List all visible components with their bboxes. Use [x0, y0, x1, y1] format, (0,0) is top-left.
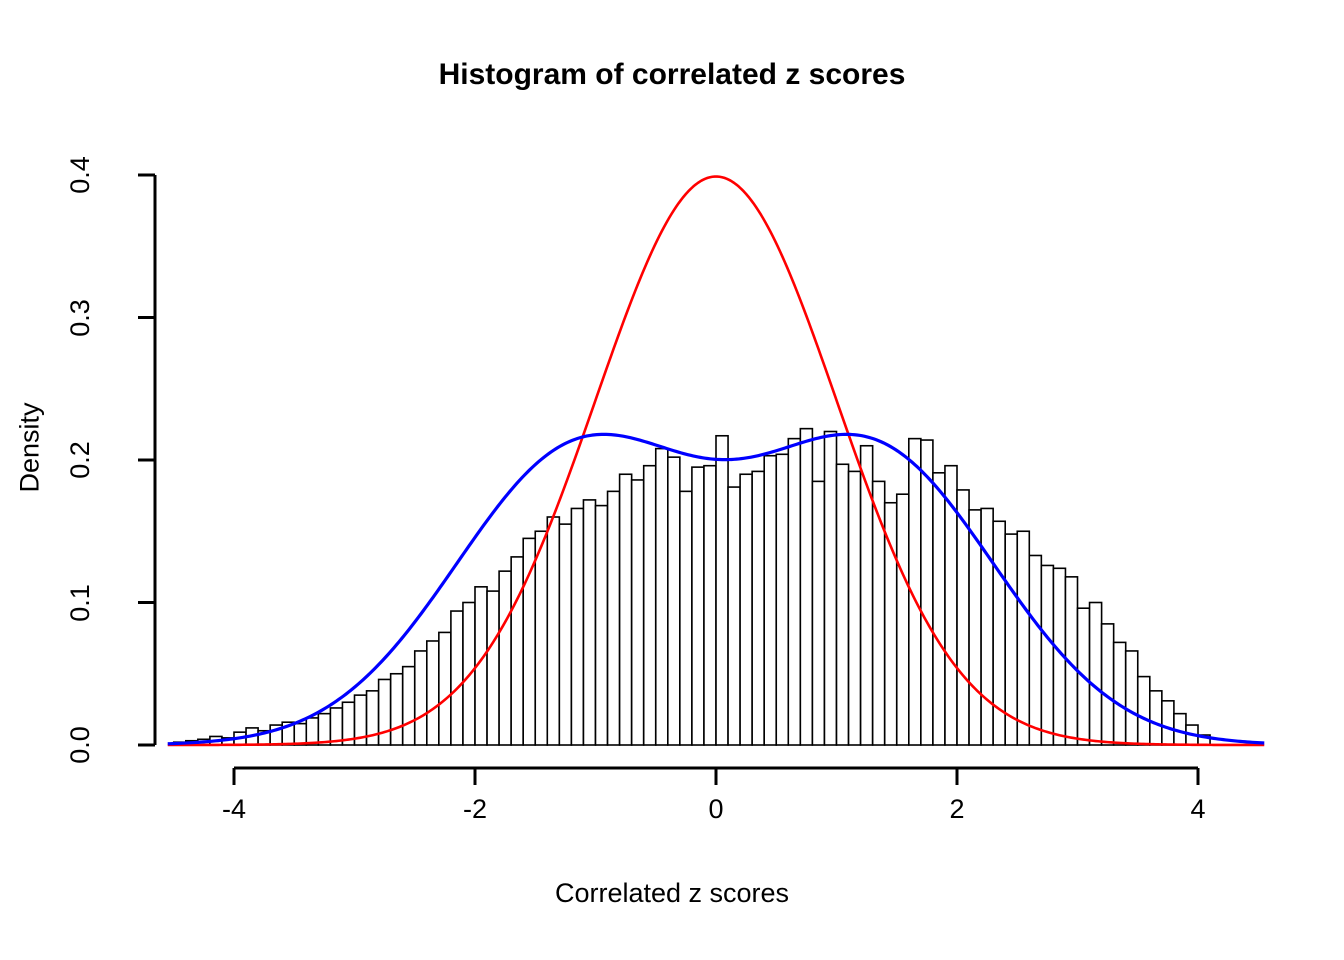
- histogram-bar: [776, 454, 788, 745]
- y-tick-label: 0.1: [35, 585, 125, 621]
- y-tick-label: 0.2: [35, 442, 125, 478]
- histogram-bar: [403, 667, 415, 745]
- histogram-bar: [644, 466, 656, 745]
- histogram-bar: [559, 524, 571, 745]
- histogram-bar: [535, 531, 547, 745]
- histogram-bar: [1150, 691, 1162, 745]
- histogram-bar: [1017, 531, 1029, 745]
- histogram-bar: [873, 481, 885, 745]
- histogram-bar: [764, 456, 776, 745]
- histogram-bar: [752, 471, 764, 745]
- histogram-bar: [439, 632, 451, 745]
- histogram-bar: [740, 474, 752, 745]
- histogram-bar: [812, 481, 824, 745]
- x-tick-label: 2: [907, 794, 1007, 825]
- histogram-bar: [1162, 701, 1174, 745]
- histogram-bar: [1102, 624, 1114, 745]
- histogram-bar: [1041, 565, 1053, 745]
- histogram-bar: [921, 440, 933, 745]
- histogram-bar: [306, 718, 318, 745]
- histogram-bar: [668, 457, 680, 745]
- histogram-bar: [451, 611, 463, 745]
- histogram-bar: [1114, 642, 1126, 745]
- x-axis-label: Correlated z scores: [0, 878, 1344, 909]
- histogram-bar: [294, 724, 306, 745]
- histogram-bar: [1029, 555, 1041, 745]
- histogram-bar: [547, 517, 559, 745]
- histogram-bar: [427, 641, 439, 745]
- x-axis: [234, 768, 1198, 785]
- histogram-bar: [849, 471, 861, 745]
- histogram-bars: [174, 429, 1210, 745]
- histogram-bar: [571, 508, 583, 745]
- histogram-bar: [499, 571, 511, 745]
- histogram-bar: [897, 494, 909, 745]
- histogram-bar: [728, 487, 740, 745]
- histogram-bar: [415, 651, 427, 745]
- chart-canvas: Histogram of correlated z scores 0.00.10…: [0, 0, 1344, 960]
- x-tick-label: -2: [425, 794, 525, 825]
- histogram-bar: [933, 473, 945, 745]
- histogram-bar: [608, 491, 620, 745]
- histogram-bar: [656, 449, 668, 745]
- histogram-bar: [620, 474, 632, 745]
- x-tick-label: 0: [666, 794, 766, 825]
- histogram-bar: [1138, 677, 1150, 745]
- histogram-bar: [583, 500, 595, 745]
- histogram-bar: [680, 491, 692, 745]
- histogram-bar: [391, 674, 403, 745]
- histogram-bar: [632, 480, 644, 745]
- histogram-bar: [800, 429, 812, 745]
- histogram-bar: [788, 439, 800, 745]
- y-axis-label: Density: [15, 358, 46, 538]
- x-tick-label: -4: [184, 794, 284, 825]
- y-tick-label: 0.0: [35, 727, 125, 763]
- histogram-bar: [511, 557, 523, 745]
- histogram-bar: [318, 714, 330, 745]
- histogram-bar: [596, 506, 608, 745]
- histogram-bar: [487, 591, 499, 745]
- histogram-bar: [1090, 603, 1102, 746]
- histogram-bar: [824, 432, 836, 746]
- x-tick-label: 4: [1148, 794, 1248, 825]
- y-axis: [138, 175, 155, 745]
- histogram-bar: [704, 466, 716, 745]
- histogram-bar: [1126, 651, 1138, 745]
- histogram-bar: [523, 538, 535, 745]
- histogram-bar: [379, 679, 391, 745]
- histogram-bar: [837, 464, 849, 745]
- y-tick-label: 0.3: [35, 300, 125, 336]
- y-tick-label: 0.4: [35, 157, 125, 193]
- histogram-bar: [692, 467, 704, 745]
- histogram-bar: [716, 436, 728, 745]
- histogram-bar: [861, 446, 873, 745]
- histogram-bar: [981, 508, 993, 745]
